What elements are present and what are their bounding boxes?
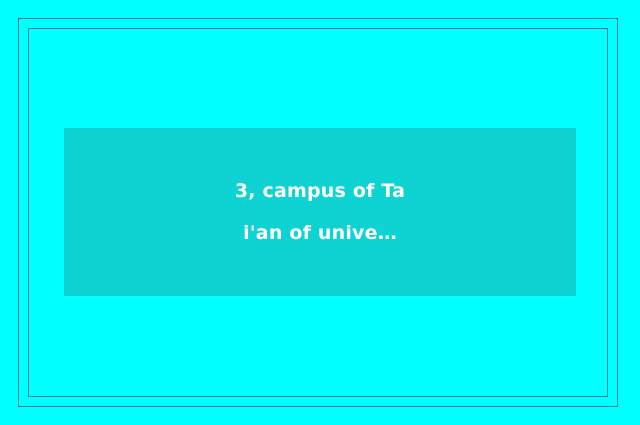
screenshot-stage: 3, campus of Ta i'an of unive… [0,0,640,425]
caption-text: 3, campus of Ta i'an of unive… [220,170,420,254]
caption-panel: 3, campus of Ta i'an of unive… [64,128,576,296]
